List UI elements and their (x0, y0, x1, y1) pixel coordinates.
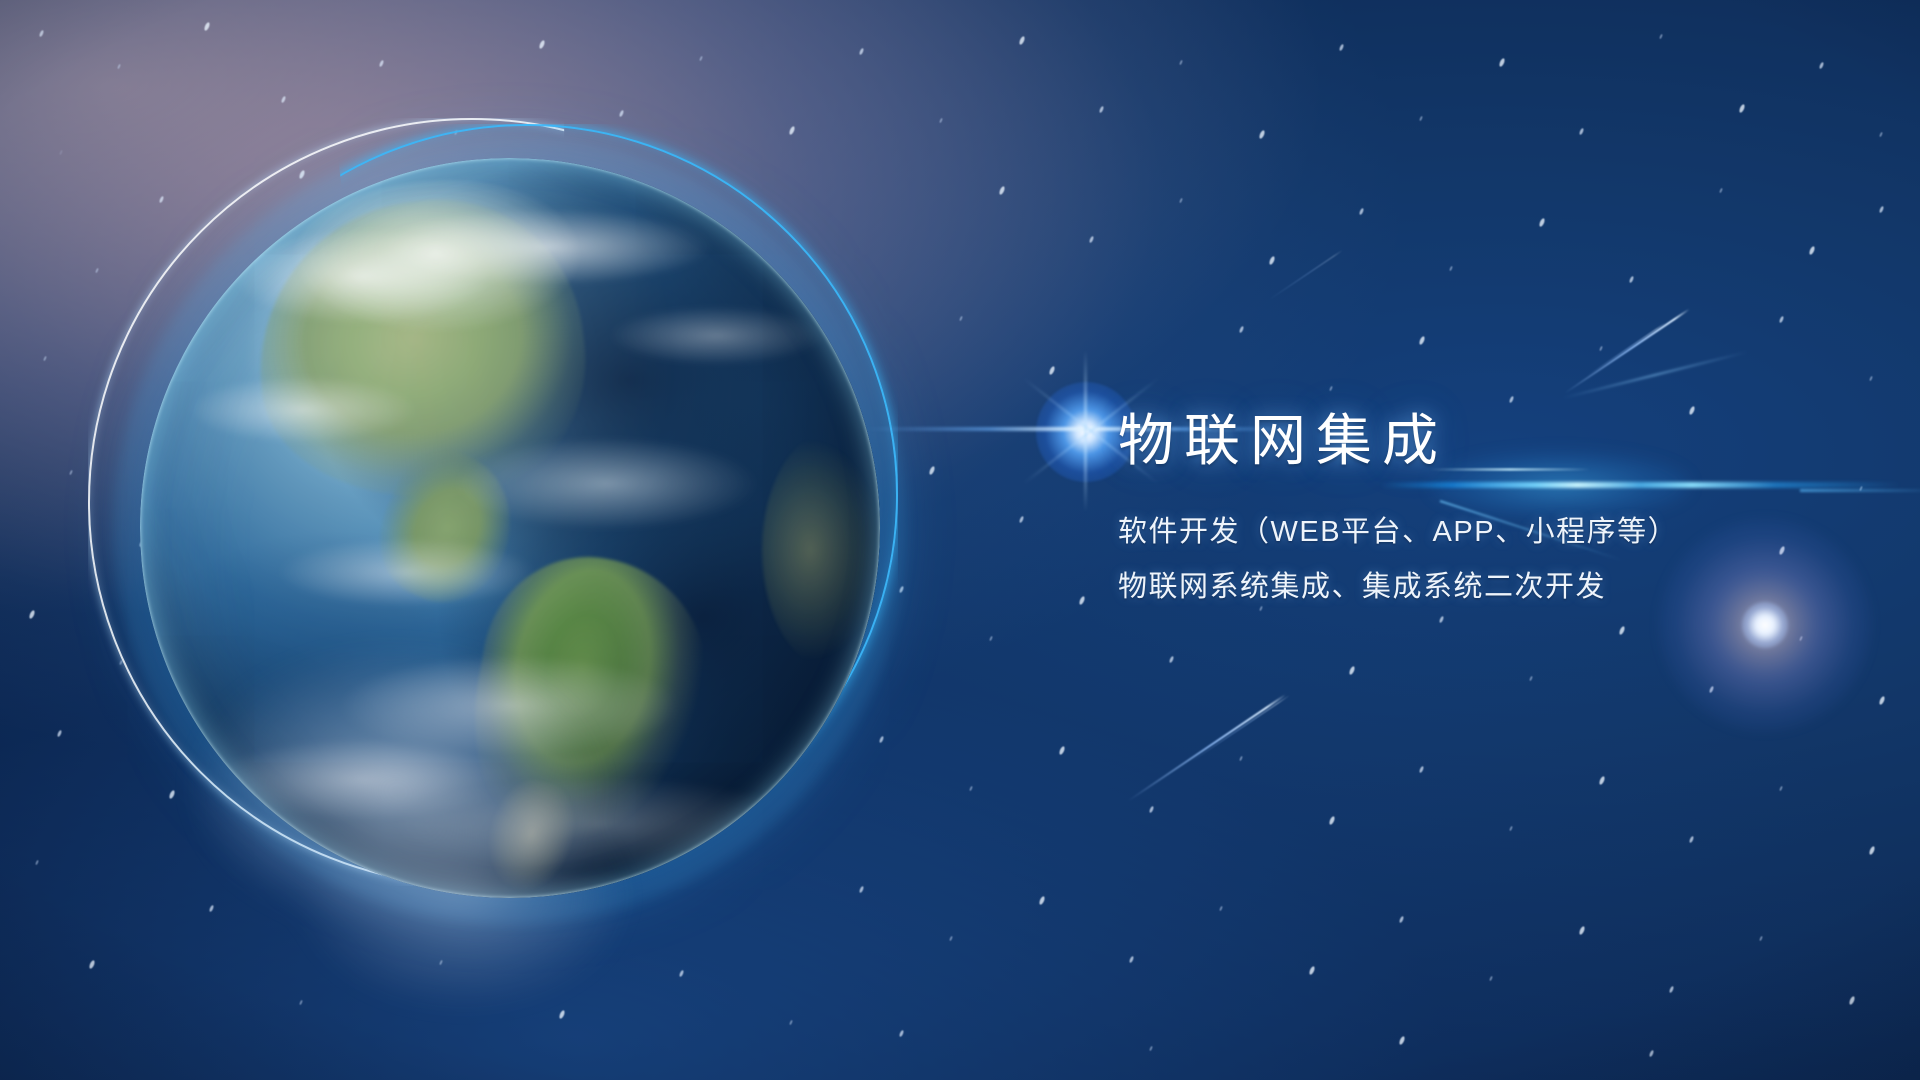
iot-integration-banner: 物联网集成 软件开发（WEB平台、APP、小程序等） 物联网系统集成、集成系统二… (0, 0, 1920, 1080)
banner-copy: 物联网集成 软件开发（WEB平台、APP、小程序等） 物联网系统集成、集成系统二… (1118, 410, 1878, 602)
banner-headline: 物联网集成 (1118, 410, 1878, 472)
banner-subline-2: 物联网系统集成、集成系统二次开发 (1118, 573, 1878, 602)
banner-subline-1: 软件开发（WEB平台、APP、小程序等） (1118, 518, 1878, 547)
